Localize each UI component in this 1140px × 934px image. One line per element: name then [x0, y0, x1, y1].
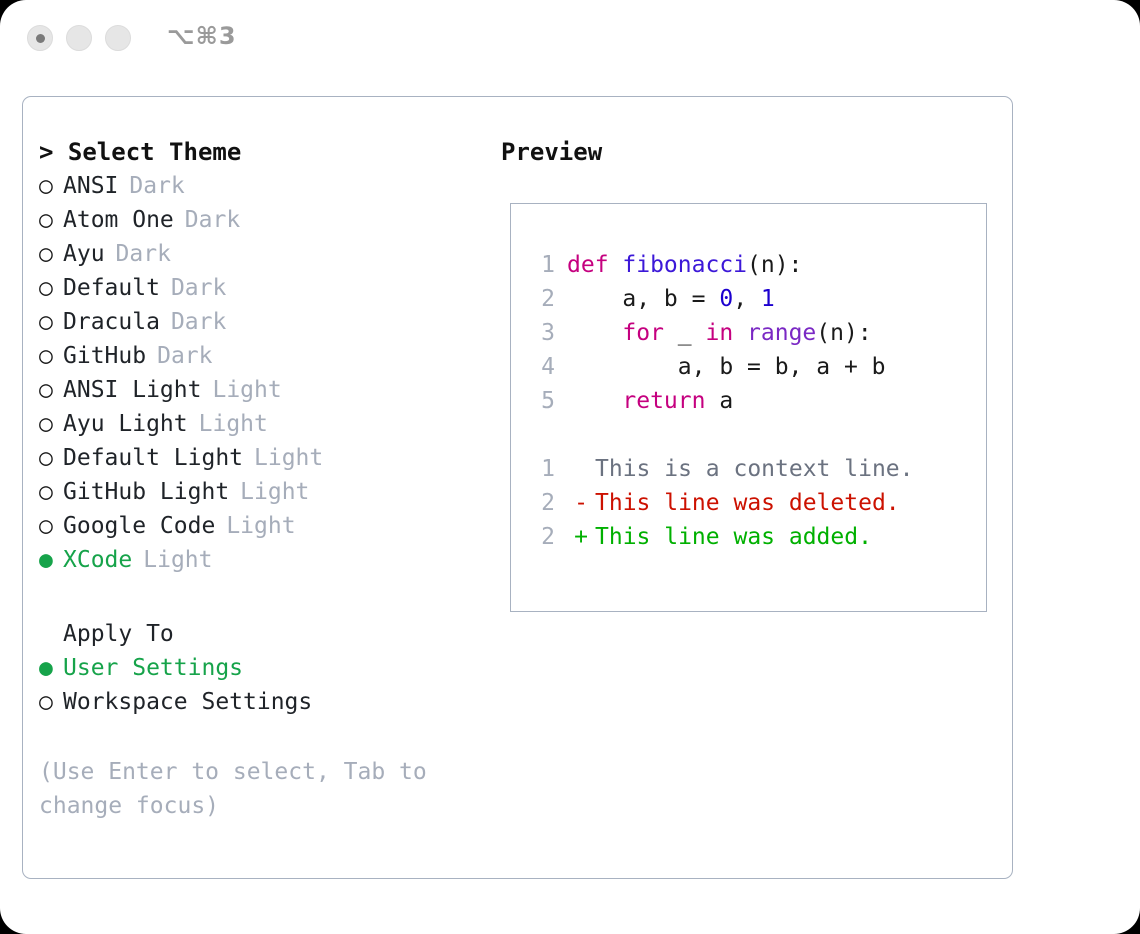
theme-list-item[interactable]: ○Atom OneDark — [39, 203, 479, 237]
theme-list-item[interactable]: ○Google CodeLight — [39, 509, 479, 543]
theme-name: ANSI — [63, 169, 118, 203]
diff-marker: + — [567, 520, 595, 554]
diff-marker — [567, 452, 595, 486]
theme-list-item[interactable]: ●XCodeLight — [39, 543, 479, 577]
radio-unselected-icon[interactable]: ○ — [39, 305, 63, 339]
code-token: def — [567, 252, 622, 278]
code-token: a, b = b, a + b — [567, 354, 886, 380]
theme-kind-label: Dark — [129, 169, 184, 203]
preview-heading: Preview — [501, 135, 1001, 169]
code-token: fibonacci — [622, 252, 747, 278]
theme-name: ANSI Light — [63, 373, 201, 407]
code-token: (n): — [816, 320, 871, 346]
theme-kind-label: Light — [143, 543, 212, 577]
radio-unselected-icon[interactable]: ○ — [39, 169, 63, 203]
apply-to-option[interactable]: ○Workspace Settings — [39, 685, 479, 719]
theme-name: Dracula — [63, 305, 160, 339]
radio-unselected-icon[interactable]: ○ — [39, 271, 63, 305]
code-token: return — [622, 388, 705, 414]
theme-list-item[interactable]: ○Default LightLight — [39, 441, 479, 475]
theme-name: Default — [63, 271, 160, 305]
code-line-text: a, b = b, a + b — [567, 350, 886, 384]
radio-selected-icon[interactable]: ● — [39, 543, 63, 577]
code-line-number: 1 — [525, 248, 555, 282]
diff-lines: 1 This is a context line.2-This line was… — [525, 452, 980, 554]
theme-picker-panel: > Select Theme ○ANSIDark○Atom OneDark○Ay… — [22, 96, 1013, 879]
code-token: 1 — [761, 286, 775, 312]
radio-selected-icon[interactable]: ● — [39, 651, 63, 685]
theme-name: Default Light — [63, 441, 243, 475]
theme-selection-column: > Select Theme ○ANSIDark○Atom OneDark○Ay… — [39, 135, 479, 823]
diff-line: 2-This line was deleted. — [525, 486, 980, 520]
theme-name: GitHub Light — [63, 475, 229, 509]
theme-name: XCode — [63, 543, 132, 577]
app-window: ⌥⌘3 > Select Theme ○ANSIDark○Atom OneDar… — [0, 0, 1140, 934]
diff-line-number: 2 — [525, 520, 555, 554]
theme-kind-label: Dark — [171, 305, 226, 339]
theme-list-item[interactable]: ○ANSI LightLight — [39, 373, 479, 407]
code-line: 2 a, b = 0, 1 — [525, 282, 980, 316]
theme-kind-label: Light — [254, 441, 323, 475]
theme-name: Google Code — [63, 509, 215, 543]
theme-list[interactable]: ○ANSIDark○Atom OneDark○AyuDark○DefaultDa… — [39, 169, 479, 577]
code-token: for — [622, 320, 664, 346]
code-line: 5 return a — [525, 384, 980, 418]
diff-marker: - — [567, 486, 595, 520]
code-token: a, b = — [567, 286, 719, 312]
code-token: a — [705, 388, 733, 414]
code-token: in — [705, 320, 733, 346]
diff-line-text: This line was added. — [595, 520, 872, 554]
preview-box: 1def fibonacci(n):2 a, b = 0, 13 for _ i… — [510, 203, 987, 612]
apply-to-option[interactable]: ●User Settings — [39, 651, 479, 685]
theme-name: Ayu Light — [63, 407, 188, 441]
code-line-text: a, b = 0, 1 — [567, 282, 775, 316]
code-line-text: def fibonacci(n): — [567, 248, 802, 282]
diff-line-number: 2 — [525, 486, 555, 520]
radio-unselected-icon[interactable]: ○ — [39, 373, 63, 407]
code-token — [733, 320, 747, 346]
code-line: 1def fibonacci(n): — [525, 248, 980, 282]
code-token: , — [733, 286, 761, 312]
code-token: (n): — [747, 252, 802, 278]
theme-kind-label: Dark — [171, 271, 226, 305]
radio-unselected-icon[interactable]: ○ — [39, 203, 63, 237]
theme-name: Ayu — [63, 237, 105, 271]
theme-kind-label: Light — [240, 475, 309, 509]
diff-line: 2+This line was added. — [525, 520, 980, 554]
code-sample: 1def fibonacci(n):2 a, b = 0, 13 for _ i… — [525, 248, 980, 554]
code-token — [567, 320, 622, 346]
traffic-light-three-icon[interactable] — [105, 25, 131, 51]
code-line-number: 4 — [525, 350, 555, 384]
theme-list-item[interactable]: ○DefaultDark — [39, 271, 479, 305]
traffic-light-active-icon[interactable] — [27, 25, 53, 51]
theme-list-item[interactable]: ○ANSIDark — [39, 169, 479, 203]
keyboard-hint-text: (Use Enter to select, Tab to change focu… — [39, 755, 459, 823]
theme-list-item[interactable]: ○DraculaDark — [39, 305, 479, 339]
theme-list-item[interactable]: ○GitHub LightLight — [39, 475, 479, 509]
apply-to-label: User Settings — [63, 651, 243, 685]
radio-unselected-icon[interactable]: ○ — [39, 407, 63, 441]
theme-kind-label: Dark — [157, 339, 212, 373]
code-line-text: return a — [567, 384, 733, 418]
code-line: 4 a, b = b, a + b — [525, 350, 980, 384]
diff-line-text: This line was deleted. — [595, 486, 900, 520]
theme-name: Atom One — [63, 203, 174, 237]
code-line-number: 5 — [525, 384, 555, 418]
theme-kind-label: Light — [199, 407, 268, 441]
theme-kind-label: Light — [212, 373, 281, 407]
diff-line: 1 This is a context line. — [525, 452, 980, 486]
code-lines: 1def fibonacci(n):2 a, b = 0, 13 for _ i… — [525, 248, 980, 418]
code-line-text: for _ in range(n): — [567, 316, 872, 350]
traffic-light-two-icon[interactable] — [66, 25, 92, 51]
code-token: 0 — [719, 286, 733, 312]
diff-line-text: This is a context line. — [595, 452, 914, 486]
radio-unselected-icon[interactable]: ○ — [39, 509, 63, 543]
apply-to-label: Workspace Settings — [63, 685, 312, 719]
apply-to-options[interactable]: ●User Settings○Workspace Settings — [39, 651, 479, 719]
code-diff-separator — [525, 418, 980, 452]
code-token — [567, 388, 622, 414]
traffic-light-group — [27, 25, 131, 51]
diff-line-number: 1 — [525, 452, 555, 486]
apply-to-section: Apply To ●User Settings○Workspace Settin… — [39, 617, 479, 719]
radio-unselected-icon[interactable]: ○ — [39, 685, 63, 719]
code-line-number: 2 — [525, 282, 555, 316]
preview-column: Preview — [501, 135, 1001, 169]
theme-list-item[interactable]: ○AyuDark — [39, 237, 479, 271]
theme-list-item[interactable]: ○Ayu LightLight — [39, 407, 479, 441]
theme-list-item[interactable]: ○GitHubDark — [39, 339, 479, 373]
theme-kind-label: Dark — [116, 237, 171, 271]
keyboard-shortcut-label: ⌥⌘3 — [167, 22, 237, 50]
theme-kind-label: Light — [226, 509, 295, 543]
radio-unselected-icon[interactable]: ○ — [39, 339, 63, 373]
radio-unselected-icon[interactable]: ○ — [39, 237, 63, 271]
code-token: range — [747, 320, 816, 346]
code-token: _ — [664, 320, 706, 346]
code-line-number: 3 — [525, 316, 555, 350]
title-bar: ⌥⌘3 — [0, 0, 1140, 78]
radio-unselected-icon[interactable]: ○ — [39, 475, 63, 509]
radio-unselected-icon[interactable]: ○ — [39, 441, 63, 475]
select-theme-heading: > Select Theme — [39, 135, 479, 169]
theme-name: GitHub — [63, 339, 146, 373]
apply-to-heading: Apply To — [39, 617, 479, 651]
code-line: 3 for _ in range(n): — [525, 316, 980, 350]
theme-kind-label: Dark — [185, 203, 240, 237]
